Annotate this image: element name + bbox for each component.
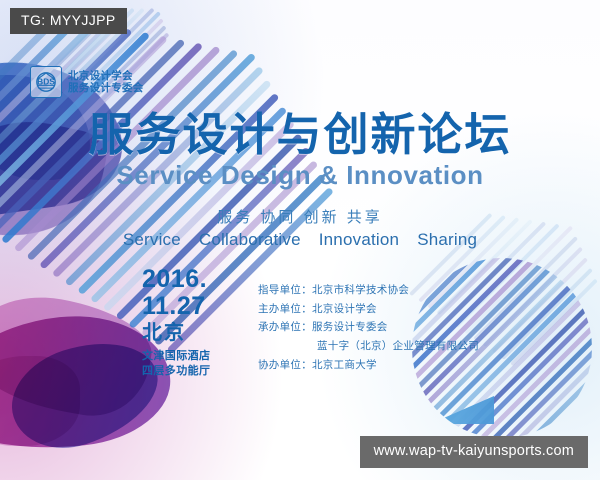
svg-text:BDS: BDS [37,77,55,87]
keyword-english-1: Service [123,230,181,249]
keywords-chinese: 服务 协同 创新 共享 [0,206,600,227]
event-year: 2016. [142,266,210,293]
event-day: 11.27 [142,293,210,320]
organizer-name-5: 北京工商大学 [312,359,377,371]
organizer-role-1: 指导单位： [258,284,312,296]
bds-logo-icon: BDS [30,66,62,98]
organizer-name-4: 蓝十字（北京）企业管理有限公司 [317,340,479,352]
event-date-venue-block: 2016. 11.27 北京 文津国际酒店 四层多功能厅 [142,266,210,380]
poster-image: BDS 北京设计学会 服务设计专委会 服务设计与创新论坛 Service Des… [0,0,600,480]
organizer-name-2: 北京设计学会 [312,303,377,315]
organizer-name-1: 北京市科学技术协会 [312,284,409,296]
poster-content: BDS 北京设计学会 服务设计专委会 服务设计与创新论坛 Service Des… [0,0,600,480]
keyword-english-3: Innovation [319,230,399,249]
logo-line-1: 北京设计学会 [68,70,144,82]
organizer-name-3: 服务设计专委会 [312,321,388,333]
organizer-list: 指导单位：北京市科学技术协会主办单位：北京设计学会承办单位：服务设计专委会蓝十字… [258,281,479,374]
site-watermark: www.wap-tv-kaiyunsports.com [360,436,588,468]
organization-logo-text: 北京设计学会 服务设计专委会 [68,70,144,95]
poster-headline: 服务设计与创新论坛 Service Design & Innovation [0,112,600,189]
organizer-role-3: 承办单位： [258,321,312,333]
organizer-row: 协办单位：北京工商大学 [258,356,479,375]
organizer-row: 指导单位：北京市科学技术协会 [258,281,479,300]
organization-logo: BDS 北京设计学会 服务设计专委会 [30,66,144,98]
organizer-row: 承办单位：服务设计专委会 [258,318,479,337]
event-venue-line-1: 文津国际酒店 [142,350,210,362]
headline-chinese: 服务设计与创新论坛 [0,112,600,159]
logo-line-2: 服务设计专委会 [68,82,144,94]
tg-watermark-badge: TG: MYYJJPP [10,8,127,34]
organizer-role-2: 主办单位： [258,303,312,315]
keywords-english: ServiceCollaborativeInnovationSharing [0,230,600,250]
event-venue: 文津国际酒店 四层多功能厅 [142,349,210,380]
keyword-english-2: Collaborative [199,230,301,249]
organizer-row: 主办单位：北京设计学会 [258,300,479,319]
keyword-english-4: Sharing [417,230,477,249]
event-venue-line-2: 四层多功能厅 [142,365,210,377]
keyword-band: 服务 协同 创新 共享 ServiceCollaborativeInnovati… [0,206,600,250]
organizer-role-5: 协办单位： [258,359,312,371]
event-city: 北京 [142,323,210,345]
headline-english: Service Design & Innovation [0,161,600,190]
organizer-row: 蓝十字（北京）企业管理有限公司 [258,337,479,356]
